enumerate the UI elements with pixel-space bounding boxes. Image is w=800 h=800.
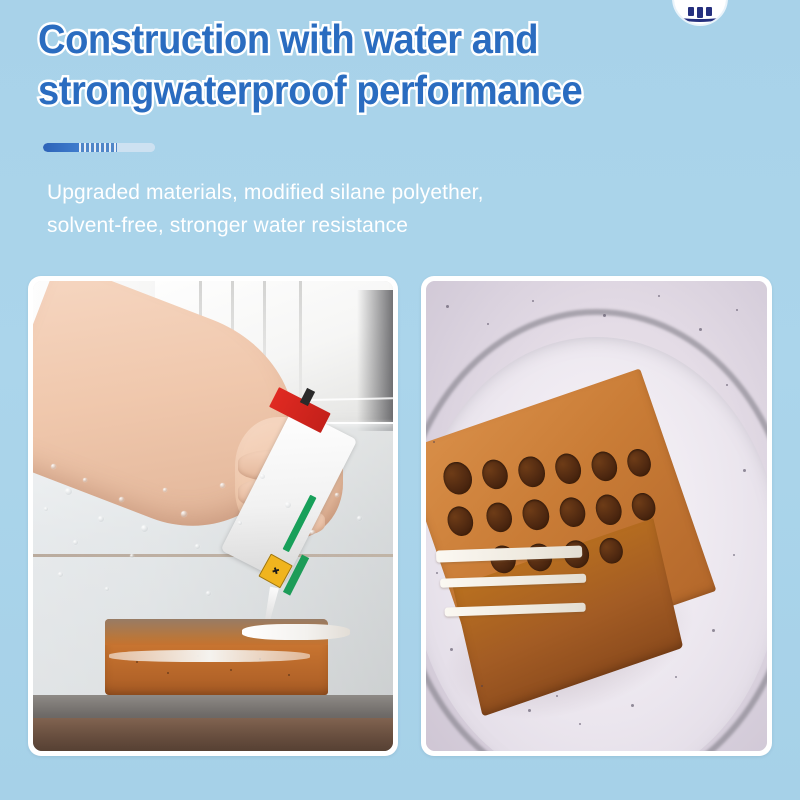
water-droplet [335, 493, 339, 497]
water-droplet [130, 554, 134, 558]
water-droplet [98, 516, 104, 522]
sealant-bead [242, 624, 350, 640]
product-banner: Construction with water and strongwaterp… [0, 0, 800, 800]
water-droplet [260, 474, 265, 479]
submerged-brick-photo [421, 276, 772, 756]
water-tank-scene [33, 281, 393, 751]
tank-base-reflection [33, 718, 393, 751]
sealant-bead [109, 650, 311, 662]
water-droplet [238, 521, 242, 525]
water-droplet [357, 516, 362, 521]
water-droplet [73, 540, 78, 545]
water-droplet [163, 488, 167, 492]
subtitle: Upgraded materials, modified silane poly… [47, 176, 687, 242]
divider-progress-bar [43, 143, 155, 152]
divider-track-segment [117, 143, 155, 152]
water-droplet [285, 502, 291, 508]
water-basin-scene [426, 281, 767, 751]
water-droplet [44, 507, 48, 511]
page-title: Construction with water and strongwaterp… [38, 14, 768, 116]
water-droplet [181, 511, 187, 517]
water-droplet [105, 587, 109, 591]
subtitle-line-2: solvent-free, stronger water resistance [47, 209, 687, 242]
underwater-application-photo [28, 276, 398, 756]
divider-dotted-segment [79, 143, 117, 152]
water-droplet [206, 591, 211, 596]
photo-gallery [28, 276, 772, 756]
subtitle-line-1: Upgraded materials, modified silane poly… [47, 176, 687, 209]
background-shadow [357, 290, 393, 431]
page-title-line-2: strongwaterproof performance [38, 65, 717, 116]
tank-shelf-line [33, 554, 393, 557]
page-title-line-1: Construction with water and [38, 14, 717, 65]
divider-filled-segment [43, 143, 79, 152]
